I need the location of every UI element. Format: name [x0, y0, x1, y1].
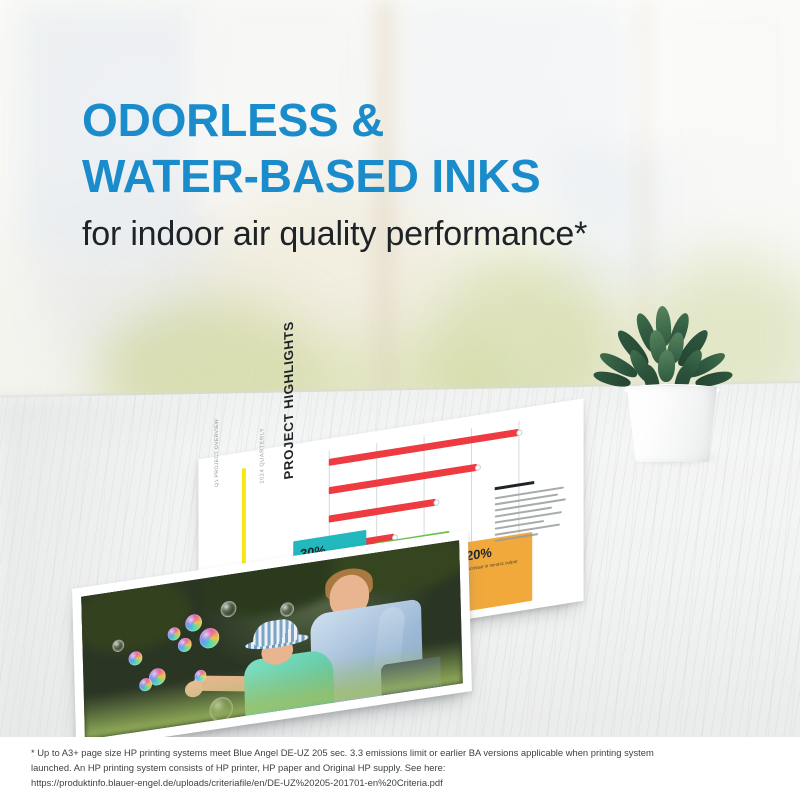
- brochure-eyebrow: Q1 PROJECT OVERVIEW: [214, 389, 220, 487]
- chart-endpoint-dot: [516, 429, 522, 436]
- footnote-line-1: * Up to A3+ page size HP printing system…: [31, 745, 771, 760]
- brochure-title: PROJECT HIGHLIGHTS: [281, 320, 296, 480]
- stat-percent: 20%: [466, 544, 492, 563]
- brochure-note-block: [495, 475, 570, 546]
- bubble: [280, 601, 294, 617]
- brochure-subtitle: 2024 QUARTERLY: [260, 386, 266, 484]
- footnote: * Up to A3+ page size HP printing system…: [31, 745, 771, 790]
- footnote-line-2: launched. An HP printing system consists…: [31, 760, 771, 775]
- page-subtitle: for indoor air quality performance*: [82, 212, 762, 256]
- headline-line-1: ODORLESS &: [82, 92, 722, 148]
- chart-bar: [329, 499, 436, 523]
- page-title: ODORLESS & WATER-BASED INKS: [82, 92, 722, 204]
- leaf: [657, 350, 675, 383]
- footnote-url[interactable]: https://produktinfo.blauer-engel.de/uplo…: [31, 775, 771, 790]
- bubble: [178, 637, 192, 653]
- chart-bar: [329, 464, 477, 495]
- headline-line-2: WATER-BASED INKS: [82, 148, 722, 204]
- bubble: [185, 613, 202, 633]
- chart-endpoint-dot: [475, 464, 481, 471]
- bubble: [167, 626, 180, 641]
- chart-endpoint-dot: [433, 499, 439, 506]
- brochure-note-lines: [495, 485, 570, 541]
- potted-succulent: [600, 300, 780, 460]
- plant-pot: [624, 386, 720, 462]
- foliage-dark: [81, 572, 191, 660]
- bubble: [199, 627, 219, 650]
- marketing-poster: Q1 PROJECT OVERVIEW 2024 QUARTERLY PROJE…: [0, 0, 800, 800]
- bubble: [128, 650, 142, 666]
